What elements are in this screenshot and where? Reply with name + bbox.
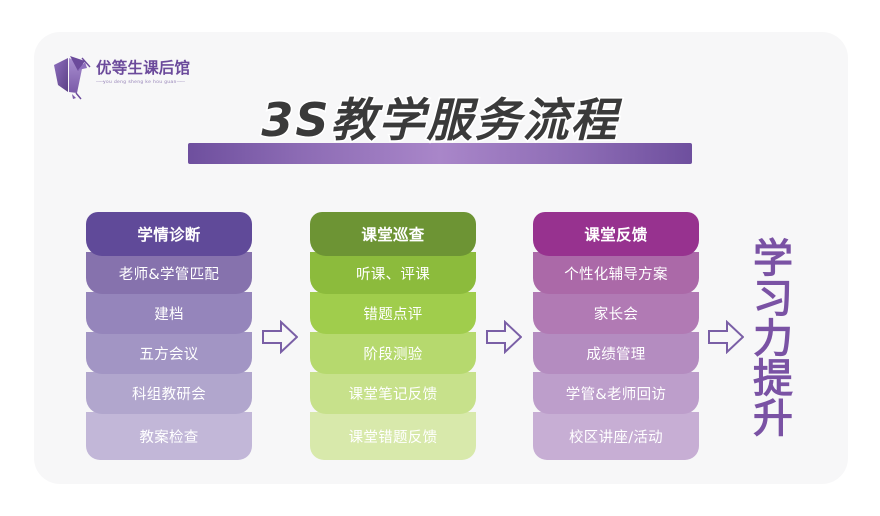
flow-item[interactable]: 错题点评	[310, 292, 476, 334]
flow-item[interactable]: 课堂笔记反馈	[310, 372, 476, 414]
page-title: 3S教学服务流程	[182, 92, 698, 148]
flow-item[interactable]: 老师&学管匹配	[86, 252, 252, 294]
process-flow: 学情诊断 老师&学管匹配 建档 五方会议 科组教研会 教案检查 课堂巡查 听课、…	[86, 212, 786, 460]
flow-item[interactable]: 阶段测验	[310, 332, 476, 374]
poster-title-block: 3S教学服务流程	[182, 92, 698, 164]
flow-item[interactable]: 五方会议	[86, 332, 252, 374]
poster-root: 优等生课后馆 you deng sheng ke hou guan 3S教学服务…	[0, 0, 880, 516]
flow-column-classroom-feedback: 课堂反馈 个性化辅导方案 家长会 成绩管理 学管&老师回访 校区讲座/活动	[533, 212, 699, 460]
flow-item[interactable]: 校区讲座/活动	[533, 412, 699, 460]
diamond-gem-icon	[52, 52, 94, 100]
right-arrow-outline-icon	[708, 320, 744, 354]
outcome-label: 学习力提升	[744, 237, 794, 437]
flow-item[interactable]: 科组教研会	[86, 372, 252, 414]
flow-item[interactable]: 建档	[86, 292, 252, 334]
brand-logo: 优等生课后馆 you deng sheng ke hou guan	[52, 52, 192, 102]
flow-item[interactable]: 家长会	[533, 292, 699, 334]
flow-column-header[interactable]: 课堂反馈	[533, 212, 699, 256]
flow-item[interactable]: 个性化辅导方案	[533, 252, 699, 294]
flow-item[interactable]: 听课、评课	[310, 252, 476, 294]
flow-column-header[interactable]: 学情诊断	[86, 212, 252, 256]
flow-item[interactable]: 教案检查	[86, 412, 252, 460]
right-arrow-outline-icon	[486, 320, 522, 354]
flow-item[interactable]: 成绩管理	[533, 332, 699, 374]
brand-logo-text: 优等生课后馆 you deng sheng ke hou guan	[96, 61, 192, 84]
outcome-block: 学习力提升	[740, 212, 798, 462]
flow-item[interactable]: 课堂错题反馈	[310, 412, 476, 460]
right-arrow-outline-icon	[262, 320, 298, 354]
flow-column-learning-diagnosis: 学情诊断 老师&学管匹配 建档 五方会议 科组教研会 教案检查	[86, 212, 252, 460]
flow-column-header[interactable]: 课堂巡查	[310, 212, 476, 256]
flow-item[interactable]: 学管&老师回访	[533, 372, 699, 414]
brand-name-pinyin: you deng sheng ke hou guan	[96, 80, 192, 85]
brand-name-cn: 优等生课后馆	[96, 61, 192, 77]
flow-column-classroom-inspection: 课堂巡查 听课、评课 错题点评 阶段测验 课堂笔记反馈 课堂错题反馈	[310, 212, 476, 460]
